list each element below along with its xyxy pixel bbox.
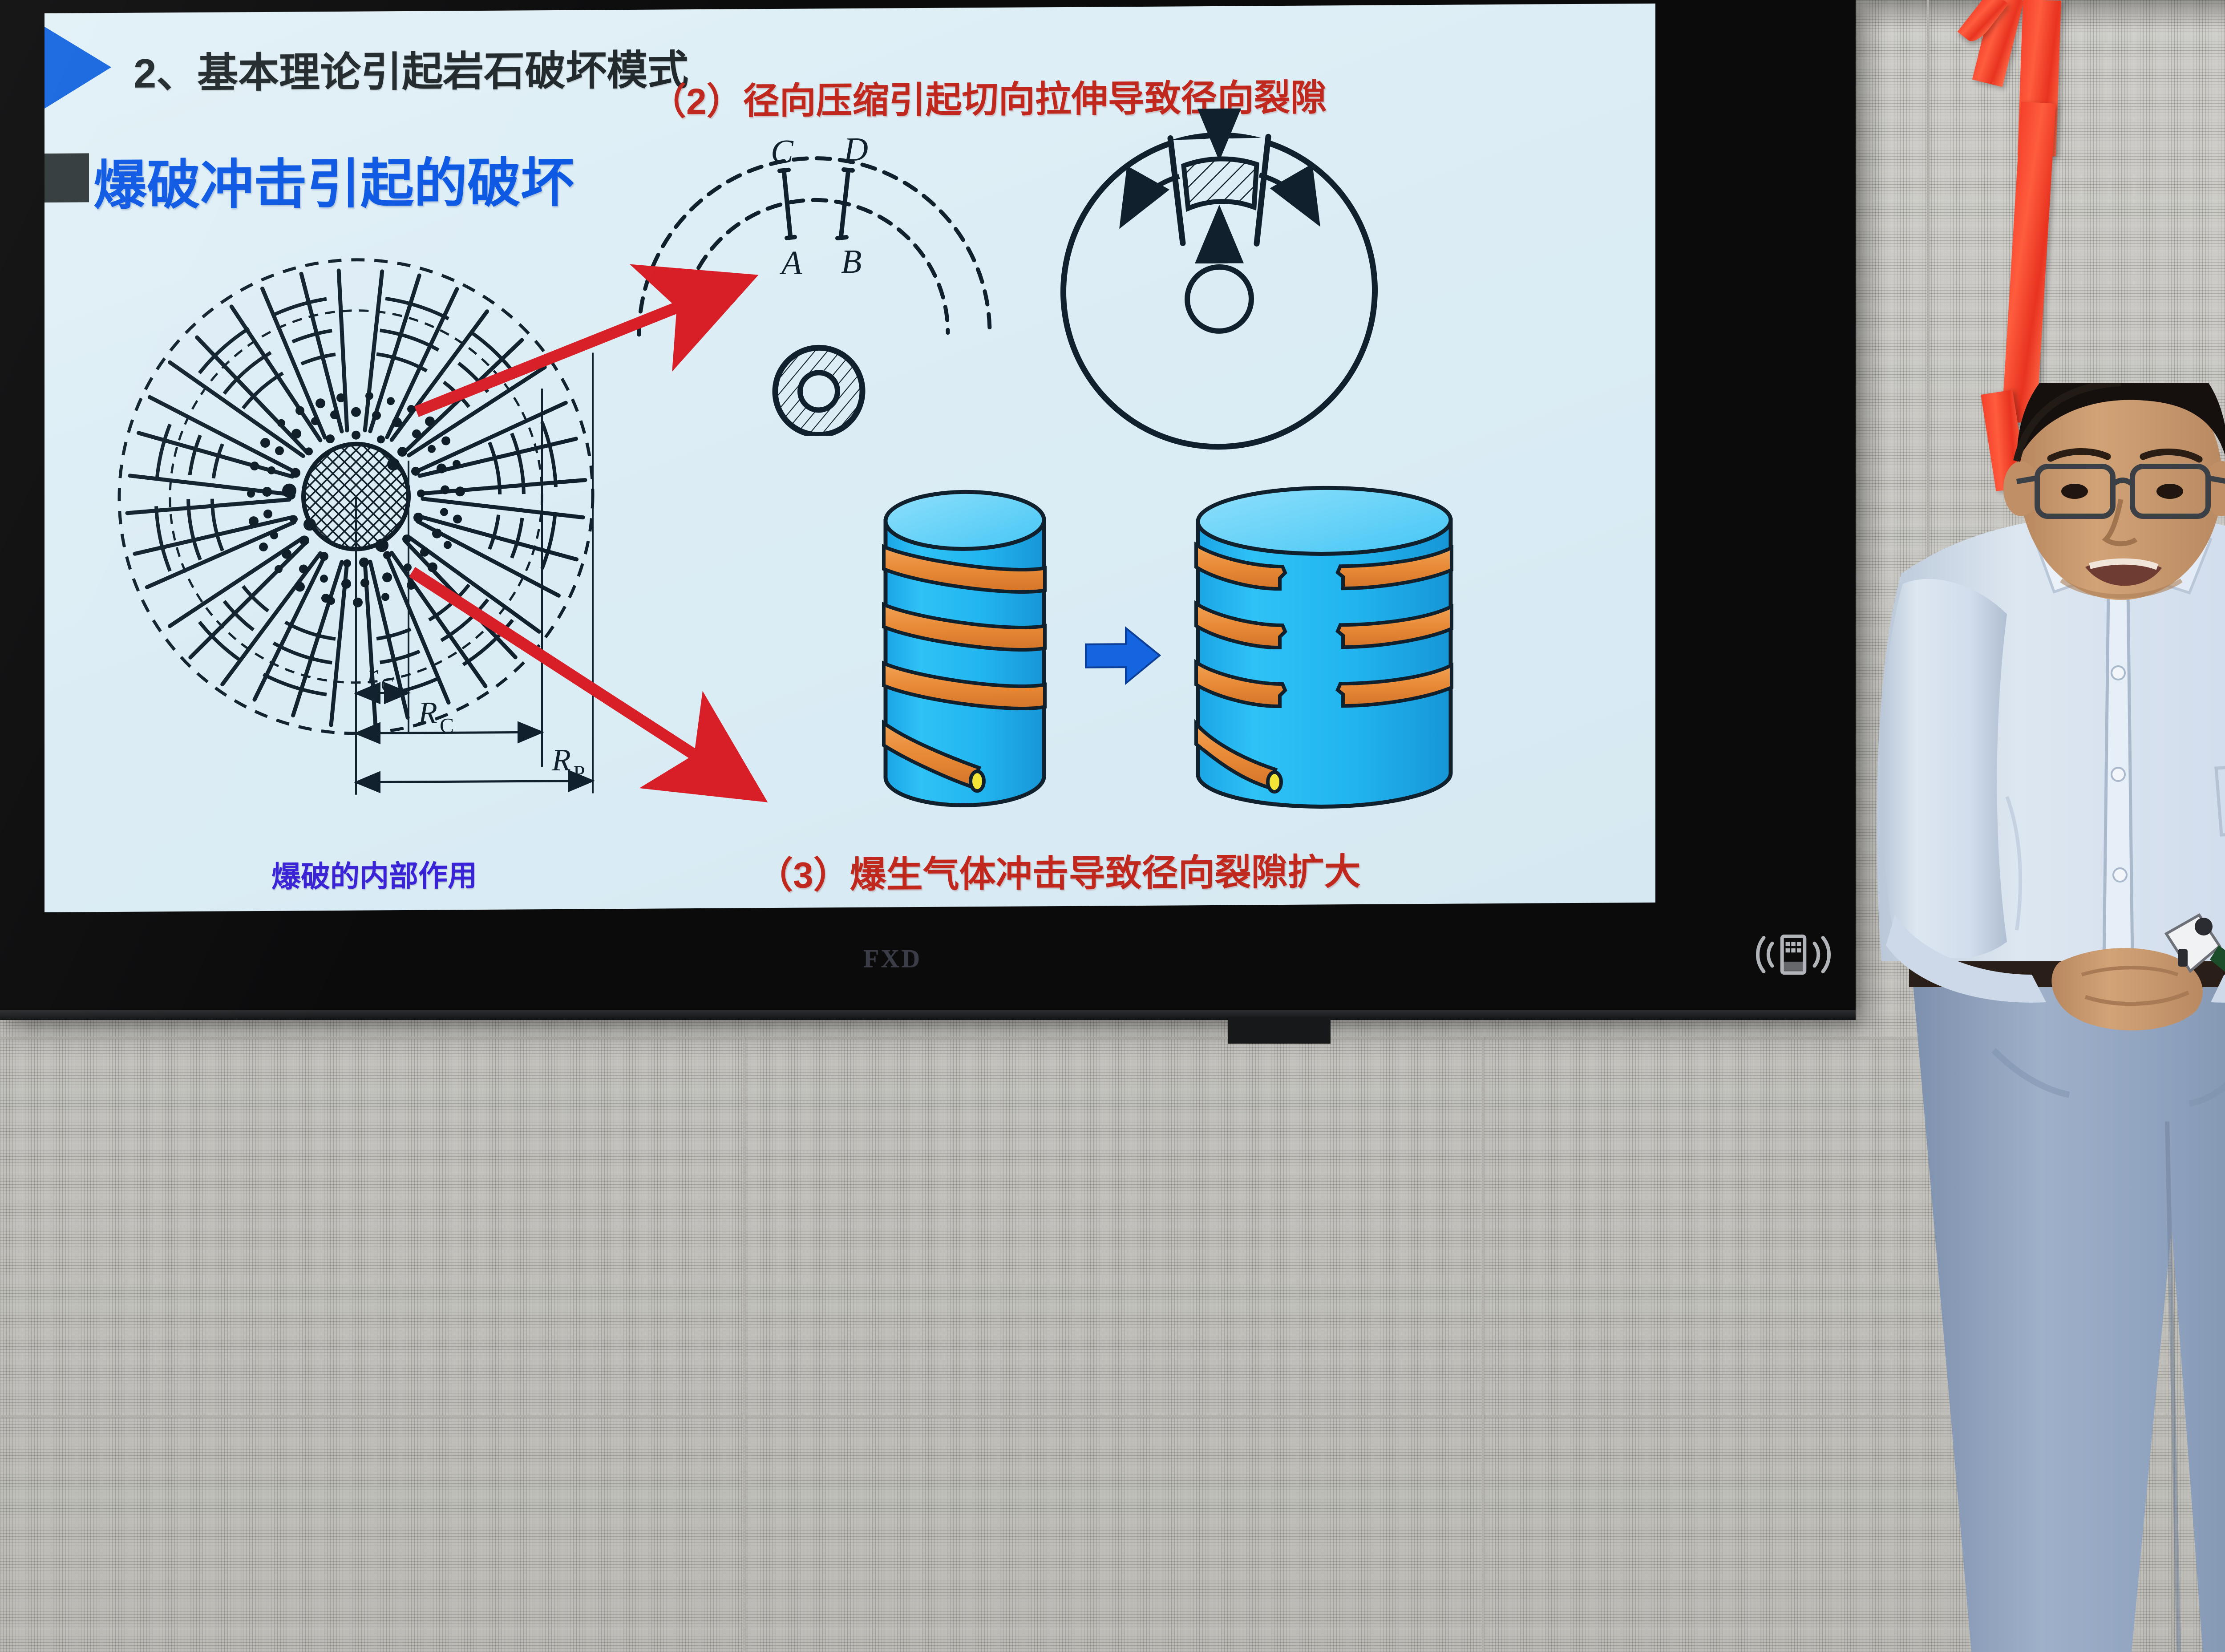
screenshot-root: 2、基本理论引起岩石破坏模式 爆破冲击引起的破坏 （2）径向压缩引起切向拉伸导致… [0, 0, 2225, 1652]
svg-text:R: R [418, 696, 437, 730]
slide-subtitle: 爆破冲击引起的破坏 [93, 139, 574, 220]
wireless-cast-icon[interactable] [1749, 923, 1838, 986]
tangential-tension-arc-diagram: C D A B [619, 123, 1010, 437]
svg-text:R: R [551, 743, 571, 777]
heading-section-3: （3）爆生气体冲击导致径向裂隙扩大 [756, 842, 1361, 899]
display-mount-bracket [1228, 1017, 1331, 1044]
caption-blast-internal-action: 爆破的内部作用 [271, 852, 477, 896]
arc-label-c: C [771, 133, 794, 170]
svg-text:r: r [368, 659, 379, 689]
display-brand-logo: FXD [863, 943, 922, 973]
transition-arrow-icon [1086, 628, 1160, 684]
slide-title: 2、基本理论引起岩石破坏模式 [133, 37, 688, 100]
arc-label-b: B [841, 243, 862, 280]
svg-text:P: P [573, 761, 585, 785]
presentation-slide[interactable]: 2、基本理论引起岩石破坏模式 爆破冲击引起的破坏 （2）径向压缩引起切向拉伸导致… [44, 4, 1655, 912]
presenter [1860, 383, 2225, 1652]
wall-seam-vertical [743, 1037, 745, 1652]
svg-text:C: C [381, 674, 394, 696]
cylinder-after [1196, 487, 1452, 808]
interactive-display[interactable]: 2、基本理论引起岩石破坏模式 爆破冲击引起的破坏 （2）径向压缩引起切向拉伸导致… [0, 0, 1856, 1019]
arc-label-a: A [779, 244, 802, 282]
svg-text:C: C [440, 714, 454, 737]
gas-expansion-cylinder-pair [877, 477, 1455, 836]
radial-compression-circle-diagram [1037, 107, 1402, 457]
jeans [1913, 979, 2225, 1652]
wall-seam-vertical [1482, 1037, 1484, 1652]
dark-tab-marker [44, 153, 89, 202]
blast-internal-action-diagram: rC RC RP [107, 219, 676, 854]
blue-triangle-marker [44, 26, 111, 109]
cylinder-before [884, 491, 1045, 806]
arc-label-d: D [843, 131, 868, 168]
display-lower-edge [0, 1010, 1856, 1020]
